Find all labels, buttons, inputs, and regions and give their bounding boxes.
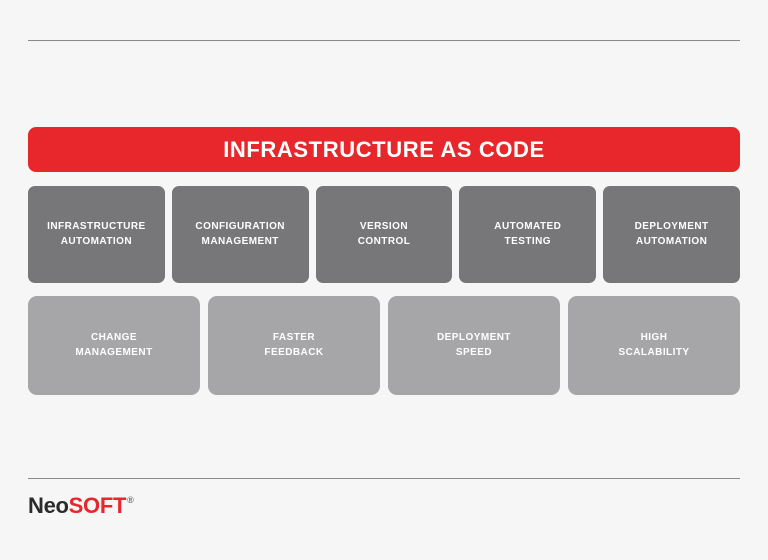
card-label: CONFIGURATION MANAGEMENT: [195, 220, 285, 249]
card-label: AUTOMATED TESTING: [494, 220, 561, 249]
secondary-benefits-row: CHANGE MANAGEMENT FASTER FEEDBACK DEPLOY…: [28, 296, 740, 395]
logo-text-soft: SOFT: [69, 495, 126, 517]
slide-canvas: INFRASTRUCTURE AS CODE INFRASTRUCTURE AU…: [0, 0, 768, 560]
card-label: FASTER FEEDBACK: [264, 331, 323, 360]
card-configuration-management[interactable]: CONFIGURATION MANAGEMENT: [172, 186, 309, 283]
card-deployment-speed[interactable]: DEPLOYMENT SPEED: [388, 296, 560, 395]
card-automated-testing[interactable]: AUTOMATED TESTING: [459, 186, 596, 283]
card-high-scalability[interactable]: HIGH SCALABILITY: [568, 296, 740, 395]
bottom-divider: [28, 478, 740, 479]
registered-trademark-icon: ®: [127, 496, 134, 505]
primary-capabilities-row: INFRASTRUCTURE AUTOMATION CONFIGURATION …: [28, 186, 740, 283]
card-label: DEPLOYMENT AUTOMATION: [635, 220, 709, 249]
card-label: VERSION CONTROL: [358, 220, 411, 249]
card-label: CHANGE MANAGEMENT: [75, 331, 152, 360]
card-deployment-automation[interactable]: DEPLOYMENT AUTOMATION: [603, 186, 740, 283]
card-faster-feedback[interactable]: FASTER FEEDBACK: [208, 296, 380, 395]
card-change-management[interactable]: CHANGE MANAGEMENT: [28, 296, 200, 395]
logo-text-neo: Neo: [28, 495, 69, 517]
top-divider: [28, 40, 740, 41]
banner-title: INFRASTRUCTURE AS CODE: [223, 139, 545, 161]
card-infrastructure-automation[interactable]: INFRASTRUCTURE AUTOMATION: [28, 186, 165, 283]
card-version-control[interactable]: VERSION CONTROL: [316, 186, 453, 283]
card-label: INFRASTRUCTURE AUTOMATION: [47, 220, 146, 249]
neosoft-logo: Neo SOFT ®: [28, 495, 134, 517]
card-label: HIGH SCALABILITY: [618, 331, 689, 360]
card-label: DEPLOYMENT SPEED: [437, 331, 511, 360]
infrastructure-as-code-banner: INFRASTRUCTURE AS CODE: [28, 127, 740, 172]
